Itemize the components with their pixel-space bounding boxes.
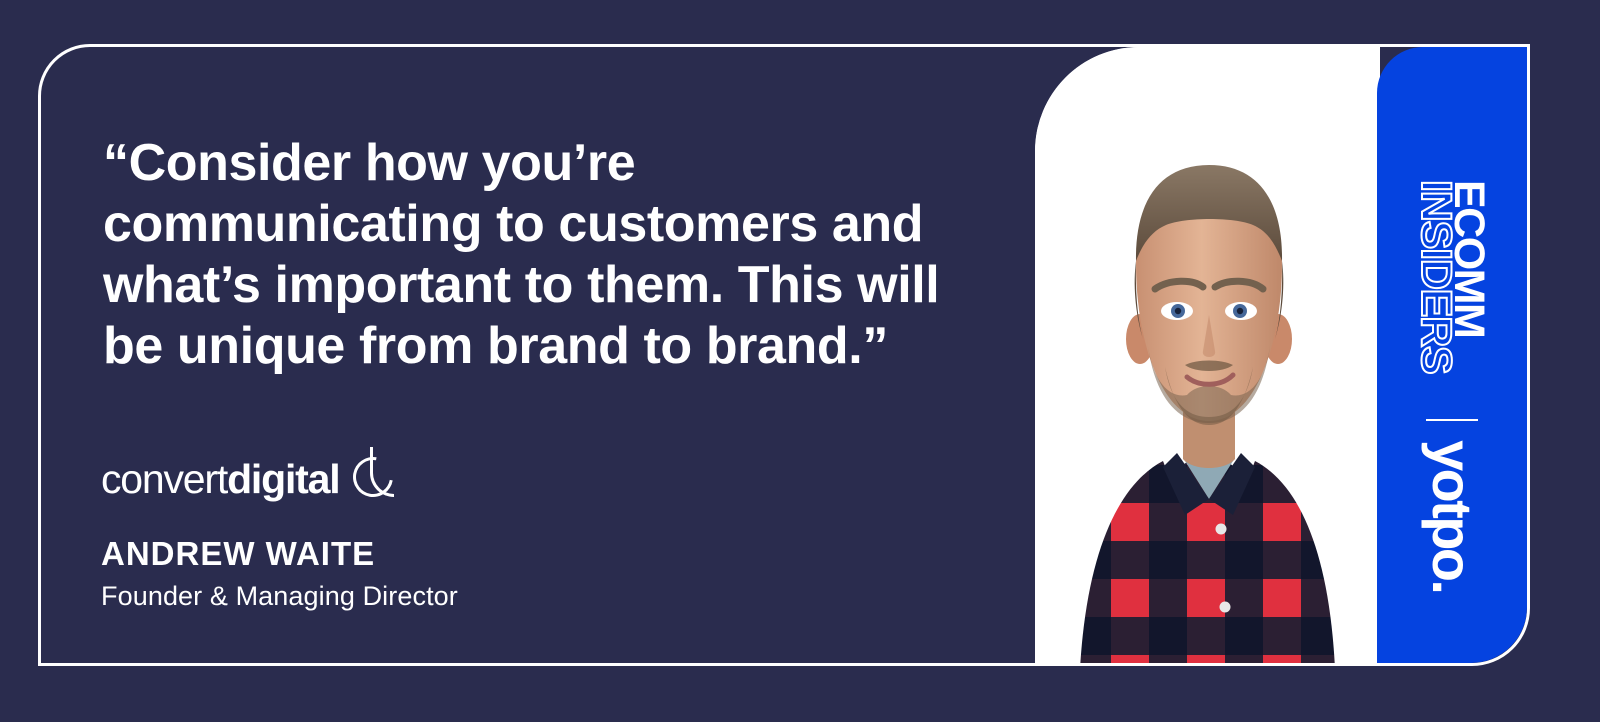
program-title-line2: INSIDERS xyxy=(1416,180,1456,430)
yotpo-wordmark: yotpo. xyxy=(1421,440,1484,592)
speaker-role: Founder & Managing Director xyxy=(101,579,458,613)
panel-divider xyxy=(1426,419,1478,421)
quote-line-1: “Consider how you’re xyxy=(103,133,1033,194)
quote-line-4: be unique from brand to brand.” xyxy=(103,316,1033,377)
brand-logo-text: convertdigital xyxy=(101,459,339,500)
convertdigital-logo: convertdigital xyxy=(101,451,411,507)
quote-line-3: what’s important to them. This will xyxy=(103,255,1033,316)
convertdigital-c-mark-icon xyxy=(351,451,411,507)
quote-line-2: communicating to customers and xyxy=(103,194,1033,255)
speaker-name: ANDREW WAITE xyxy=(101,535,458,573)
ecomm-insiders-lockup: ECOMM INSIDERS xyxy=(1397,175,1507,435)
yotpo-logo-rotated: yotpo. xyxy=(1423,440,1481,650)
sponsor-side-panel: ECOMM INSIDERS yotpo. xyxy=(1377,47,1527,663)
quote-block: “Consider how you’re communicating to cu… xyxy=(103,133,1033,377)
yotpo-logo: yotpo. xyxy=(1397,445,1507,645)
speaker-identity: ANDREW WAITE Founder & Managing Director xyxy=(101,535,458,613)
quote-card: “Consider how you’re communicating to cu… xyxy=(38,44,1530,666)
speaker-portrait-photo xyxy=(1035,47,1380,666)
brand-logo-text-bold: digital xyxy=(227,456,339,502)
portrait-illustration xyxy=(1035,47,1380,666)
brand-logo-text-light: convert xyxy=(101,456,227,502)
ecomm-insiders-rotated: ECOMM INSIDERS xyxy=(1416,180,1488,430)
